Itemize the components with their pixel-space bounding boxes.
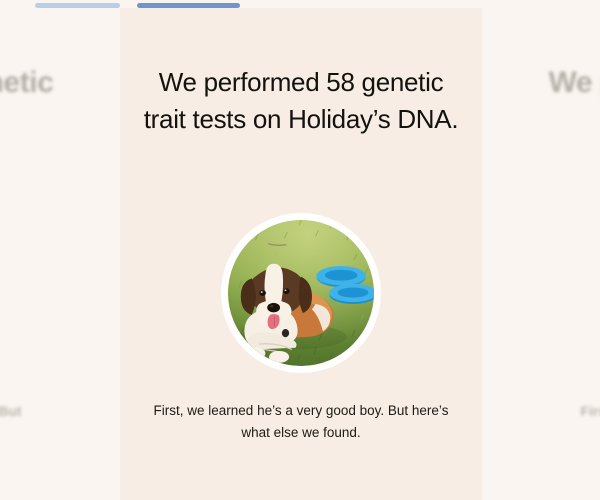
card-headline: We performed 58 genetic trait tests on H… <box>138 64 464 138</box>
active-card[interactable]: We performed 58 genetic trait tests on H… <box>120 8 482 500</box>
carousel-viewport: We performed 58 genetic First, we learne… <box>0 0 600 500</box>
next-card-subtext: First, we learned he’s a very good boy. … <box>482 400 600 422</box>
previous-card-content: We performed 58 genetic First, we learne… <box>0 8 120 500</box>
dog-photo-illustration <box>228 220 374 366</box>
previous-card-peek[interactable]: We performed 58 genetic First, we learne… <box>0 8 120 500</box>
blue-disc-back <box>317 266 366 287</box>
previous-card-subtext: First, we learned he’s a very good boy. … <box>0 400 120 422</box>
progress-step-1[interactable] <box>35 3 120 8</box>
card-subtext: First, we learned he’s a very good boy. … <box>148 400 454 444</box>
next-card-headline: We performed 58 genetic <box>482 64 600 102</box>
dog-nose <box>267 303 280 312</box>
previous-card-headline: We performed 58 genetic <box>0 64 120 102</box>
next-card-peek[interactable]: We performed 58 genetic First, we learne… <box>482 8 600 500</box>
pet-photo <box>228 220 374 366</box>
dog-eye-left <box>259 290 266 296</box>
blue-disc-front <box>329 284 374 304</box>
pet-photo-frame <box>221 213 381 373</box>
next-card-content: We performed 58 genetic First, we learne… <box>482 8 600 500</box>
dog-eye-right <box>283 288 290 294</box>
